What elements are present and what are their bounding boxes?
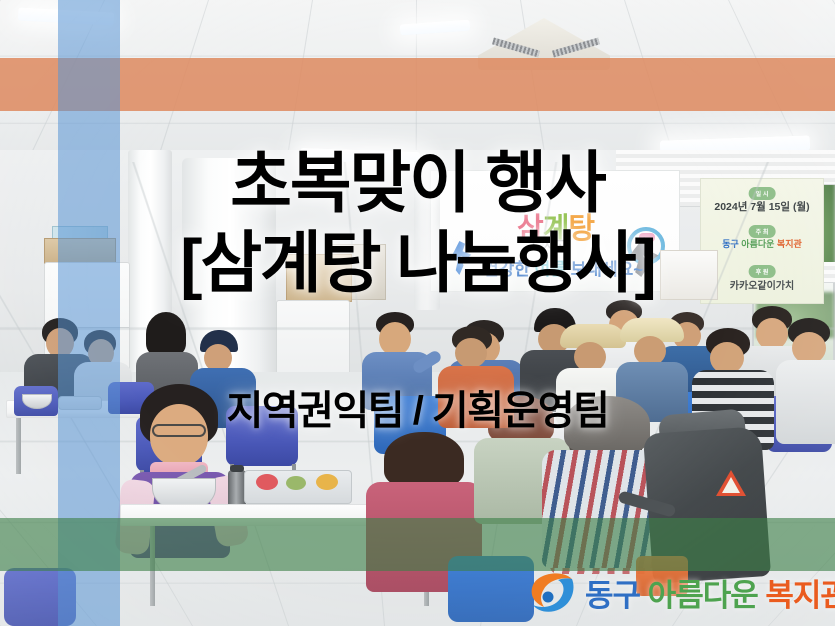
chair xyxy=(4,568,76,626)
background-photo: 삼계탕 드시고 건강한 여름 보내세요~ 일 시 2024년 7월 15일 (월… xyxy=(0,0,835,626)
hair xyxy=(384,432,464,488)
torso xyxy=(438,366,514,428)
side-dish xyxy=(286,476,306,490)
logo-word-bokjigwan: 복지관 xyxy=(765,578,835,613)
gray-hair xyxy=(564,396,650,454)
side-dish xyxy=(316,474,338,490)
table-leg xyxy=(16,418,21,474)
chair xyxy=(226,406,298,466)
logo-word-donggu: 동구 xyxy=(585,578,640,613)
chair xyxy=(448,556,534,622)
torso xyxy=(776,360,835,444)
hair xyxy=(146,312,186,356)
head xyxy=(455,338,487,368)
organization-logo: 동구 아름다운 복지관 xyxy=(528,570,835,615)
table-leg xyxy=(150,526,155,606)
eyeglasses xyxy=(152,424,206,437)
logo-wordmark: 동구 아름다운 복지관 xyxy=(585,570,835,615)
poster-canvas: 삼계탕 드시고 건강한 여름 보내세요~ 일 시 2024년 7월 15일 (월… xyxy=(0,0,835,626)
logo-mark-icon xyxy=(528,571,576,615)
head xyxy=(379,322,411,356)
watermelon-slice xyxy=(256,474,278,490)
meal-tray xyxy=(58,396,102,410)
slow-vehicle-triangle-sign xyxy=(716,470,746,496)
logo-word-areumdaun: 아름다운 xyxy=(648,578,758,613)
